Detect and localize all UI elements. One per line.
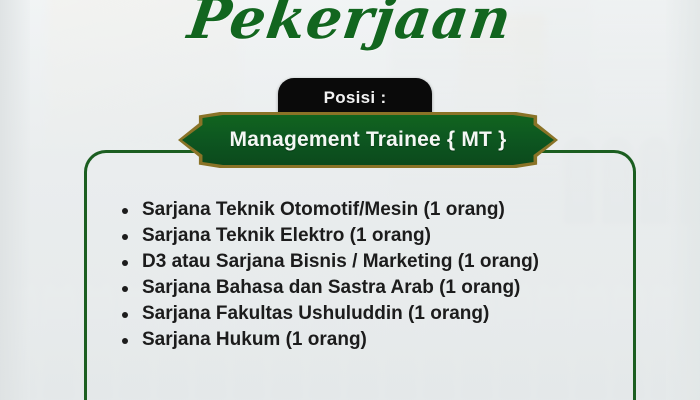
requirement-text: Sarjana Teknik Otomotif/Mesin (1 orang) [142, 199, 505, 220]
bullet-icon [122, 208, 128, 214]
bullet-icon [122, 286, 128, 292]
requirement-item: Sarjana Fakultas Ushuluddin (1 orang) [118, 304, 628, 323]
requirement-item: Sarjana Bahasa dan Sastra Arab (1 orang) [118, 278, 628, 297]
requirement-text: Sarjana Bahasa dan Sastra Arab (1 orang) [142, 277, 520, 298]
background-right-gradient [666, 0, 700, 400]
bullet-icon [122, 338, 128, 344]
requirement-text: Sarjana Teknik Elektro (1 orang) [142, 225, 431, 246]
requirements-list: Sarjana Teknik Otomotif/Mesin (1 orang) … [118, 200, 628, 356]
position-label-text: Posisi : [324, 88, 387, 108]
requirement-text: Sarjana Hukum (1 orang) [142, 329, 367, 350]
requirement-text: D3 atau Sarjana Bisnis / Marketing (1 or… [142, 251, 539, 272]
position-name-text: Management Trainee { MT } [230, 128, 507, 152]
requirement-item: Sarjana Teknik Elektro (1 orang) [118, 226, 628, 245]
bullet-icon [122, 260, 128, 266]
requirement-text: Sarjana Fakultas Ushuluddin (1 orang) [142, 303, 489, 324]
job-vacancy-poster: Pekerjaan Posisi : Management Trainee { … [0, 0, 700, 400]
bullet-icon [122, 234, 128, 240]
position-banner: Management Trainee { MT } [178, 112, 558, 168]
requirement-item: D3 atau Sarjana Bisnis / Marketing (1 or… [118, 252, 628, 271]
background-left-gradient [0, 0, 30, 400]
poster-title: Pekerjaan [0, 0, 700, 52]
requirement-item: Sarjana Teknik Otomotif/Mesin (1 orang) [118, 200, 628, 219]
requirement-item: Sarjana Hukum (1 orang) [118, 330, 628, 349]
bullet-icon [122, 312, 128, 318]
banner-green-fill: Management Trainee { MT } [182, 115, 554, 165]
